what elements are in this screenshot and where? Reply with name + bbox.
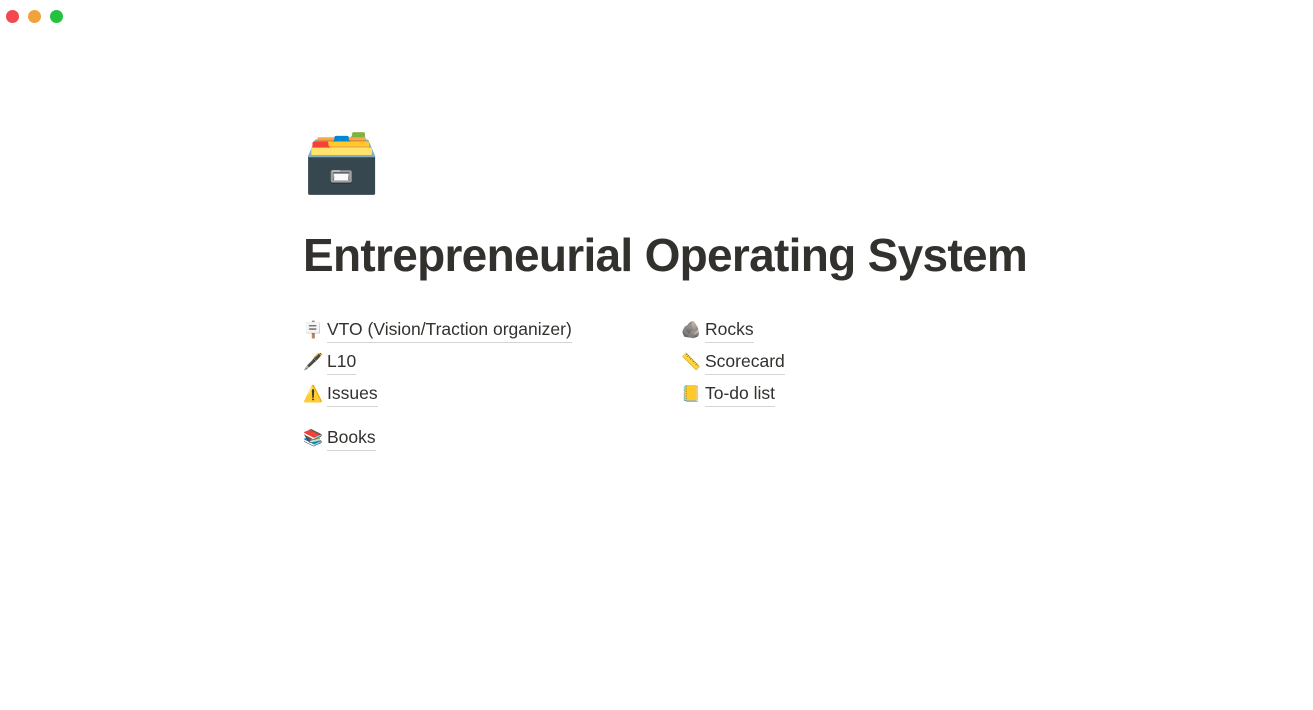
books-icon: 📚 bbox=[303, 430, 327, 446]
ruler-icon: 📏 bbox=[681, 354, 705, 370]
page-content: 🗃️ Entrepreneurial Operating System 🪧 VT… bbox=[303, 130, 1243, 458]
placard-icon: 🪧 bbox=[303, 322, 327, 338]
left-link-column: 🪧 VTO (Vision/Traction organizer) 🖋️ L10… bbox=[303, 318, 681, 458]
window-close-button[interactable] bbox=[6, 10, 19, 23]
list-item[interactable]: 📒 To-do list bbox=[681, 382, 1081, 414]
window-minimize-button[interactable] bbox=[28, 10, 41, 23]
rock-icon: 🪨 bbox=[681, 322, 705, 338]
window-titlebar bbox=[0, 0, 1313, 32]
list-item[interactable]: 📚 Books bbox=[303, 426, 681, 458]
link-columns: 🪧 VTO (Vision/Traction organizer) 🖋️ L10… bbox=[303, 318, 1243, 458]
card-file-box-emoji[interactable]: 🗃️ bbox=[303, 130, 1243, 202]
link-books[interactable]: Books bbox=[327, 426, 376, 452]
link-issues[interactable]: Issues bbox=[327, 382, 378, 408]
notebook-icon: 📒 bbox=[681, 386, 705, 402]
link-vto[interactable]: VTO (Vision/Traction organizer) bbox=[327, 318, 572, 344]
fountain-pen-icon: 🖋️ bbox=[303, 354, 327, 370]
link-rocks[interactable]: Rocks bbox=[705, 318, 754, 344]
empty-line bbox=[303, 414, 681, 426]
traffic-light-group bbox=[0, 10, 63, 23]
link-l10[interactable]: L10 bbox=[327, 350, 356, 376]
page-title: Entrepreneurial Operating System bbox=[303, 230, 1243, 282]
list-item[interactable]: 🪨 Rocks bbox=[681, 318, 1081, 350]
warning-icon: ⚠️ bbox=[303, 386, 327, 402]
page-canvas: 🗃️ Entrepreneurial Operating System 🪧 VT… bbox=[0, 32, 1313, 710]
list-item[interactable]: 📏 Scorecard bbox=[681, 350, 1081, 382]
list-item[interactable]: 🪧 VTO (Vision/Traction organizer) bbox=[303, 318, 681, 350]
list-item[interactable]: 🖋️ L10 bbox=[303, 350, 681, 382]
link-scorecard[interactable]: Scorecard bbox=[705, 350, 785, 376]
window-maximize-button[interactable] bbox=[50, 10, 63, 23]
list-item[interactable]: ⚠️ Issues bbox=[303, 382, 681, 414]
link-todo-list[interactable]: To-do list bbox=[705, 382, 775, 408]
right-link-column: 🪨 Rocks 📏 Scorecard 📒 To-do list bbox=[681, 318, 1081, 414]
